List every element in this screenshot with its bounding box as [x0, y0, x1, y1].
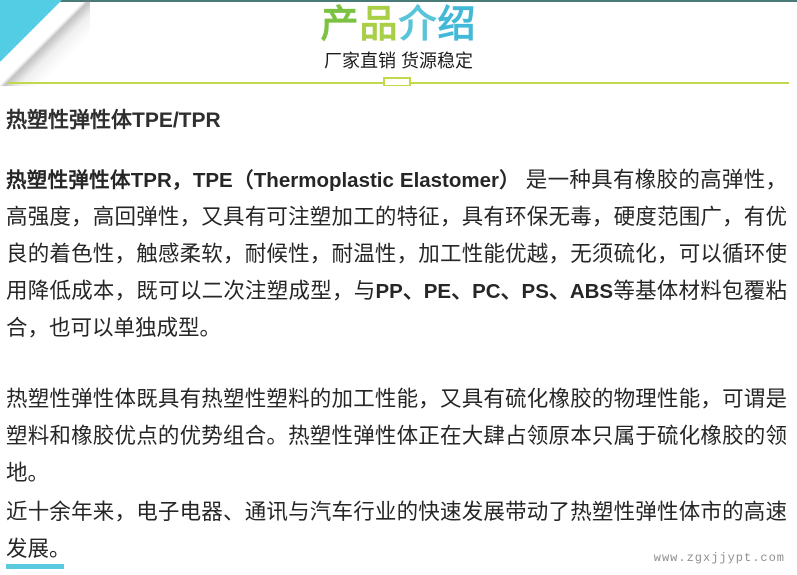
- header-divider: [8, 77, 789, 86]
- product-introduction-page: 产品介绍 厂家直销 货源稳定 热塑性弹性体TPE/TPR 热塑性弹性体TPR，T…: [0, 0, 797, 575]
- page-subtitle: 厂家直销 货源稳定: [0, 49, 797, 73]
- page-title-char-1: 产: [320, 4, 359, 46]
- paragraph-1: 热塑性弹性体TPR，TPE（Thermoplastic Elastomer） 是…: [6, 162, 787, 347]
- page-title-char-4: 绍: [438, 4, 477, 46]
- watermark-url: www.zgxjjypt.com: [654, 551, 785, 565]
- title-block: 产品介绍 厂家直销 货源稳定: [0, 4, 797, 73]
- top-rule-line: [0, 0, 797, 2]
- section-heading: 热塑性弹性体TPE/TPR: [6, 106, 787, 136]
- page-title-char-2: 品: [359, 4, 398, 46]
- paragraph-1-bold-lead: 热塑性弹性体TPR，TPE（Thermoplastic Elastomer）: [6, 169, 520, 192]
- page-content: 热塑性弹性体TPE/TPR 热塑性弹性体TPR，TPE（Thermoplasti…: [0, 106, 797, 568]
- paragraph-2: 热塑性弹性体既具有热塑性塑料的加工性能，又具有硫化橡胶的物理性能，可谓是塑料和橡…: [6, 381, 787, 492]
- paragraph-1-bold-mid: PP、PE、PC、PS、ABS: [375, 280, 613, 303]
- page-title-char-3: 介: [399, 4, 438, 46]
- page-title: 产品介绍: [0, 4, 797, 46]
- page-header: 产品介绍 厂家直销 货源稳定: [0, 0, 797, 86]
- footer-accent-bar: [6, 564, 64, 569]
- divider-center-box: [383, 77, 411, 86]
